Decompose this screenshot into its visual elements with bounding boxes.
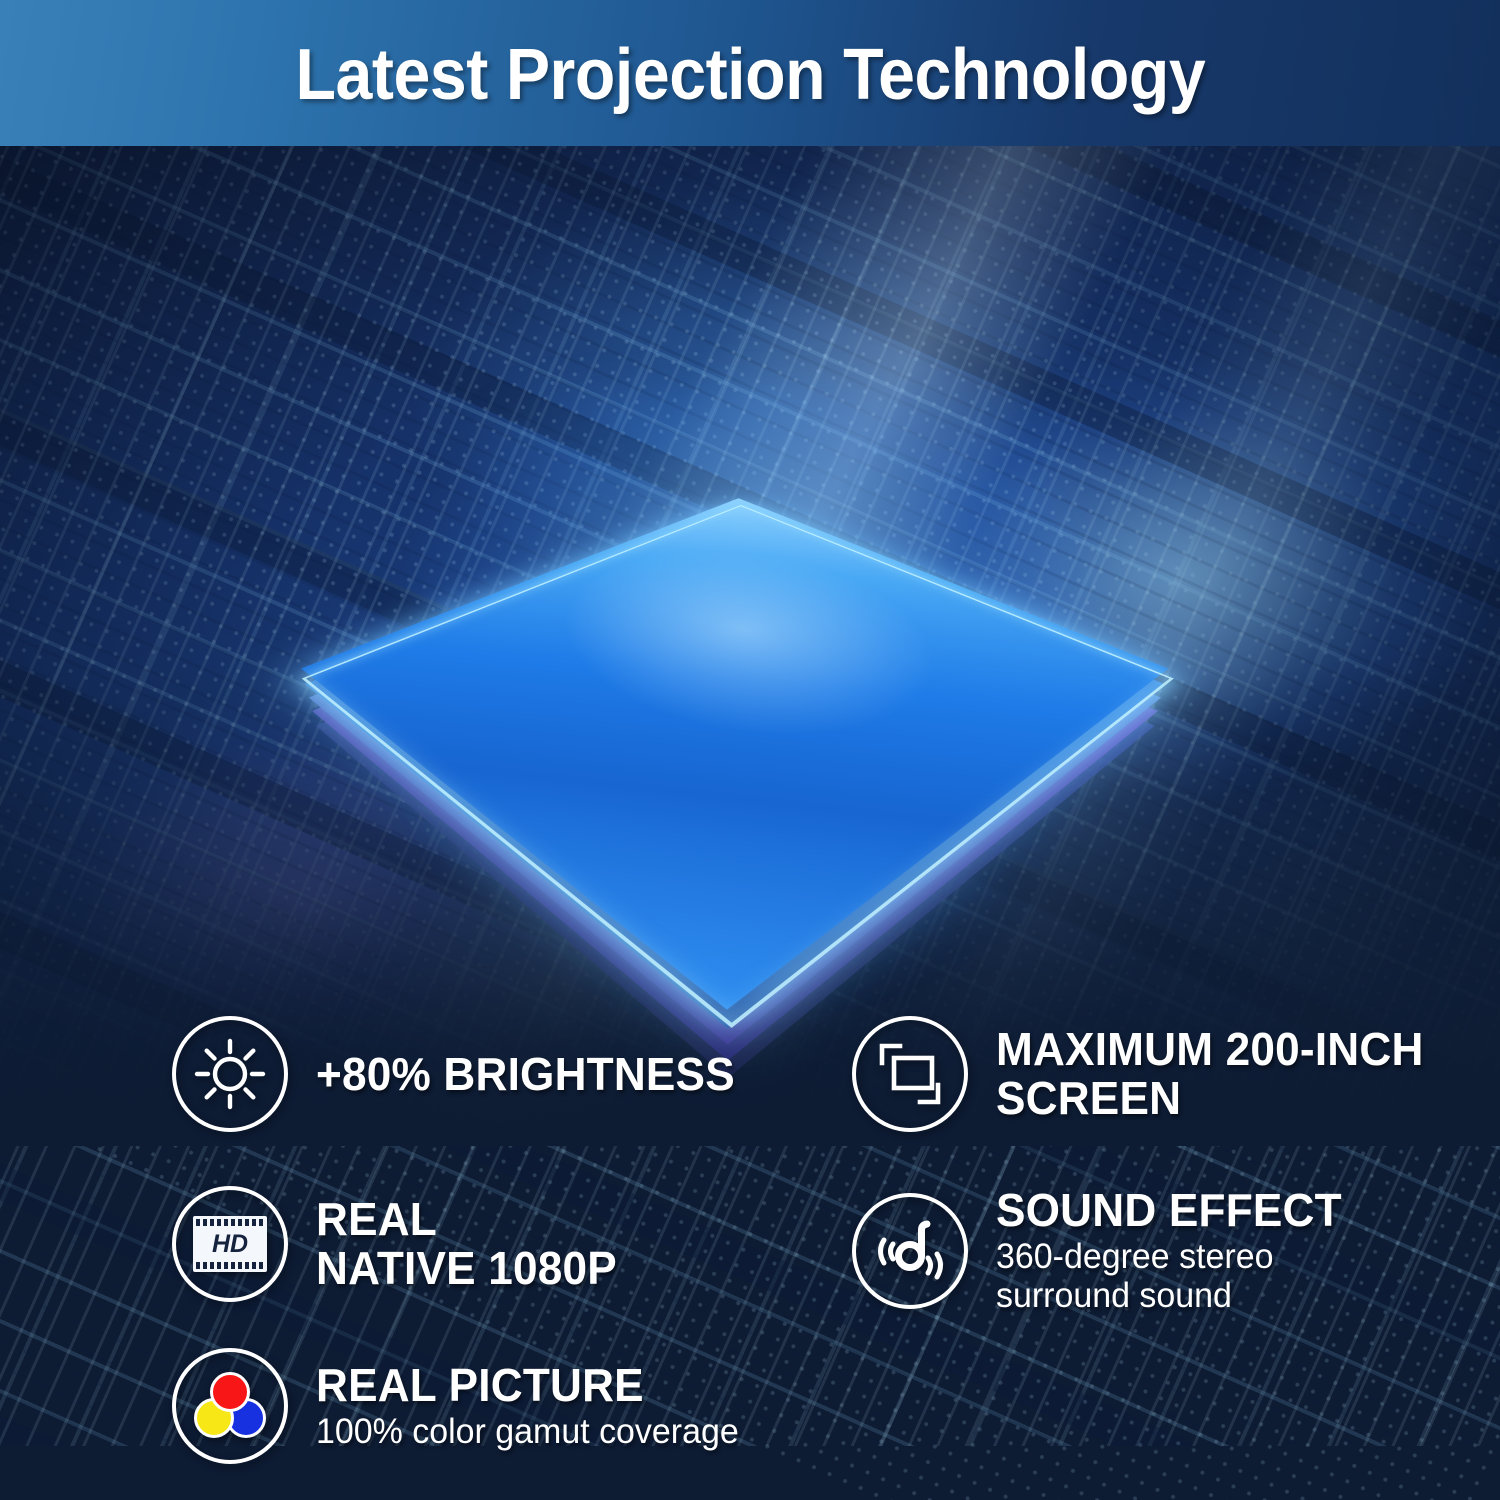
product-feature-page: Latest Projection Technology [0,0,1500,1500]
feature-item-sound-effect: SOUND EFFECT 360-degree stereo surround … [852,1186,1356,1315]
feature-text-real-picture: REAL PICTURE 100% color gamut coverage [316,1361,752,1451]
feature-item-native-1080p: HD REAL NATIVE 1080P [172,1186,629,1302]
feature-list: +80% BRIGHTNESS HD REAL NATIVE 1080P [0,0,1500,1500]
page-header-banner: Latest Projection Technology [0,0,1500,146]
sound-wave-note-icon [852,1193,968,1309]
film-strip: HD [193,1216,267,1272]
feature-title: REAL PICTURE [316,1361,734,1410]
feature-text-brightness: +80% BRIGHTNESS [316,1050,752,1099]
brightness-sun-icon [172,1016,288,1132]
feature-title: SOUND EFFECT [996,1186,1342,1235]
feature-item-max-screen: MAXIMUM 200-INCH SCREEN [852,1016,1441,1132]
screen-resize-icon [852,1016,968,1132]
red-circle [210,1372,250,1412]
feature-text-native-1080p: REAL NATIVE 1080P [316,1195,629,1293]
feature-subtitle: 100% color gamut coverage [316,1412,739,1451]
page-title: Latest Projection Technology [295,39,1205,111]
rgb-circles [194,1372,266,1440]
feature-title: REAL NATIVE 1080P [316,1195,617,1293]
hd-film-strip-icon: HD [172,1186,288,1302]
feature-text-max-screen: MAXIMUM 200-INCH SCREEN [996,1025,1441,1123]
rgb-color-circles-icon [172,1348,288,1464]
hd-label: HD [212,1232,248,1257]
feature-title: +80% BRIGHTNESS [316,1050,735,1099]
feature-title: MAXIMUM 200-INCH SCREEN [996,1025,1424,1123]
feature-subtitle: 360-degree stereo surround sound [996,1237,1345,1315]
feature-item-brightness: +80% BRIGHTNESS [172,1016,752,1132]
feature-text-sound-effect: SOUND EFFECT 360-degree stereo surround … [996,1186,1356,1315]
feature-item-real-picture: REAL PICTURE 100% color gamut coverage [172,1348,752,1464]
